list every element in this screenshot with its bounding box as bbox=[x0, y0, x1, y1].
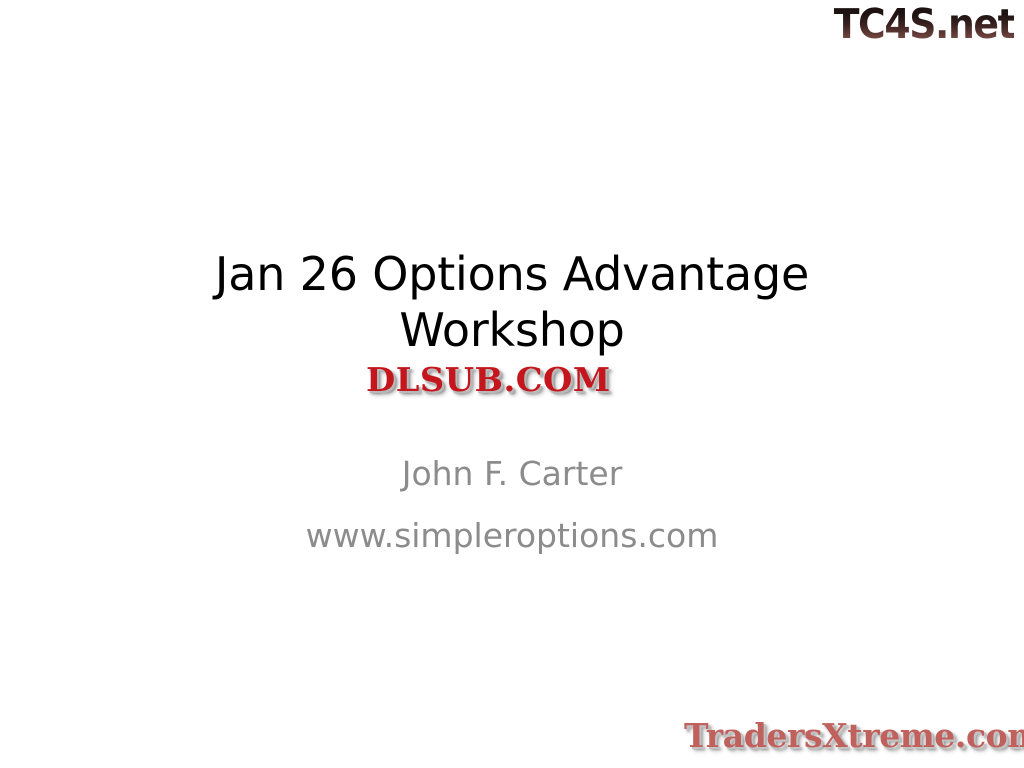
slide-title-line-1: Jan 26 Options Advantage bbox=[0, 246, 1024, 302]
tc4s-net-watermark-logo: TC4S.net bbox=[833, 2, 1014, 46]
slide-subtitle-presenter-name: John F. Carter bbox=[0, 443, 1024, 505]
slide-subtitle: John F. Carter www.simpleroptions.com bbox=[0, 443, 1024, 567]
slide-title-line-2: Workshop bbox=[0, 302, 1024, 358]
presentation-slide: TC4S.net Jan 26 Options Advantage Worksh… bbox=[0, 0, 1024, 768]
tradersxtreme-com-watermark-logo: TradersXtreme.com bbox=[684, 716, 1024, 756]
dlsub-com-watermark: DLSUB.COM bbox=[366, 360, 611, 400]
slide-subtitle-website-url: www.simpleroptions.com bbox=[0, 505, 1024, 567]
slide-title: Jan 26 Options Advantage Workshop bbox=[0, 246, 1024, 358]
